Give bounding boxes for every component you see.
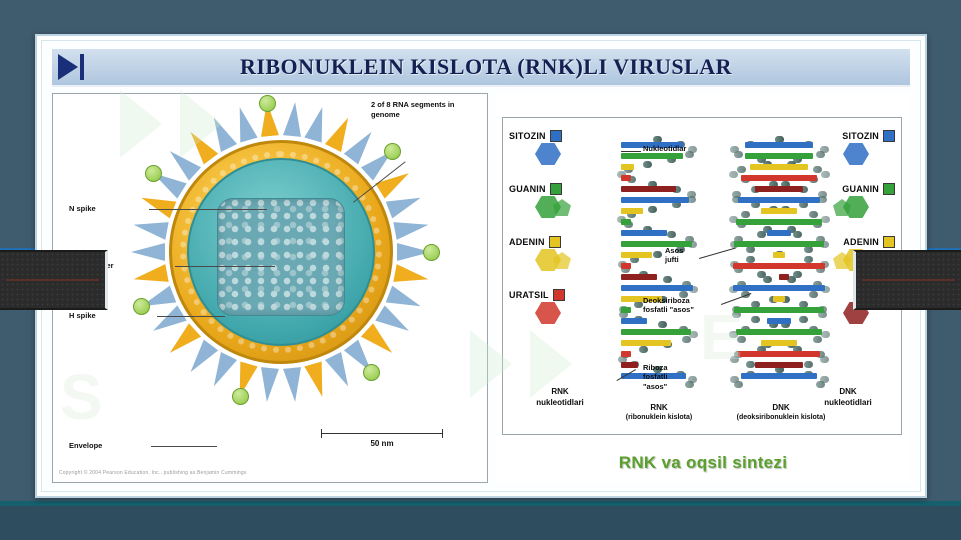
virus-spike-h (304, 361, 331, 399)
base-label: SITOZIN (509, 131, 546, 141)
virus-diagram-panel: N spike Capsid layer H spike Envelope 2 … (52, 93, 488, 483)
leader-envelope (151, 446, 217, 447)
base-pair-rung (621, 263, 631, 269)
base-pair-rung (621, 274, 657, 280)
label-envelope: Envelope (69, 441, 102, 450)
virus-glycoprotein-knob (259, 95, 276, 112)
virus-glycoprotein-knob (423, 244, 440, 261)
virus-spike-n (393, 216, 430, 240)
base-pair-rung (621, 252, 652, 258)
caption-rna-nucleotides: RNK nukleotidlari (517, 387, 603, 408)
helix-backbone-segment (643, 161, 652, 168)
base-pair-rung (767, 318, 792, 324)
slide-inner: RIBONUKLEIN KISLOTA (RNK)LI VIRUSLAR (41, 40, 921, 492)
base-pair-rung (745, 153, 812, 159)
base-pair-rung (733, 263, 825, 269)
copyright-notice: Copyright © 2004 Pearson Education, Inc.… (59, 470, 247, 476)
caption-dnk-title-text: DNK (711, 403, 851, 413)
helix-backbone-segment (751, 316, 760, 323)
label-n-spike: N spike (69, 204, 96, 213)
virus-spike-n (283, 102, 304, 138)
helix-backbone-segment (804, 361, 813, 368)
helix-backbone-segment (813, 336, 822, 343)
virus-particle (131, 102, 431, 442)
base-pair-rung (779, 274, 789, 280)
leader-nucleotides (621, 151, 641, 152)
helix-backbone-segment (746, 361, 755, 368)
page-title: RIBONUKLEIN KISLOTA (RNK)LI VIRUSLAR (102, 54, 910, 80)
helix-backbone-segment (746, 246, 755, 253)
helix-backbone-segment (746, 256, 755, 263)
base-pair-rung (621, 329, 691, 335)
helix-backbone-segment (737, 336, 746, 343)
base-pair-rung (621, 340, 671, 346)
slide: RIBONUKLEIN KISLOTA (RNK)LI VIRUSLAR (35, 34, 927, 498)
virus-spike-n (304, 105, 331, 143)
helix-backbone-segment (763, 276, 772, 283)
left-base-column: SITOZINGUANINADENINURATSIL (509, 130, 601, 342)
caption-dnk-subtitle: (deoksiribonuklein kislota) (711, 413, 851, 422)
leader-capsid (175, 266, 275, 267)
background-bottom-band (0, 506, 961, 540)
virus-stage: N spike Capsid layer H spike Envelope 2 … (53, 94, 487, 482)
base-pair-rung (621, 197, 689, 203)
virus-glycoprotein-knob (363, 364, 380, 381)
base-pair-rung (745, 142, 812, 148)
play-arrow-icon[interactable] (56, 52, 102, 82)
virus-spike-n (283, 367, 304, 403)
base-pair-rung (621, 318, 647, 324)
base-label: ADENIN (509, 237, 545, 247)
base-item: GUANIN (509, 183, 601, 226)
label-nucleotides: Nukleotidlar (643, 144, 686, 153)
virus-spike-h (393, 264, 430, 288)
helix-backbone-segment (741, 211, 750, 218)
base-pair-rung (738, 351, 820, 357)
virus-spike-n (258, 367, 279, 403)
helix-backbone-segment (816, 151, 825, 158)
base-molecule-structure (509, 143, 601, 173)
caption-rna-title-text: RNK (609, 403, 709, 413)
base-pair-rung (741, 175, 816, 181)
base-pair-rung (621, 164, 634, 170)
base-pair-rung (621, 362, 638, 368)
helix-backbone-segment (730, 356, 739, 363)
helix-backbone-segment (653, 251, 662, 258)
helix-backbone-segment (639, 346, 648, 353)
base-pair-rung (755, 186, 803, 192)
base-pair-rung (736, 329, 823, 335)
base-pair-rung (755, 362, 803, 368)
caption-rna-subtitle: (ribonuklein kislota) (609, 413, 709, 422)
base-label: ADENIN (843, 237, 879, 247)
helix-backbone-segment (729, 171, 738, 178)
helix-backbone-segment (648, 206, 657, 213)
base-label: GUANIN (509, 184, 546, 194)
base-row: GUANIN (509, 183, 601, 195)
label-rna-segments-note: 2 of 8 RNA segments in genome (371, 100, 463, 120)
label-ribose: Riboza fosfatli "asos" (643, 363, 668, 391)
base-pair-rung (761, 340, 798, 346)
virus-glycoprotein-knob (232, 388, 249, 405)
base-pair-rung (621, 153, 683, 159)
base-item: SITOZIN (509, 130, 601, 173)
base-ring-icon (535, 143, 561, 165)
helix-backbone-segment (663, 276, 672, 283)
virus-spike-n (231, 105, 258, 143)
base-pair-rung (734, 307, 824, 313)
scale-bar-value: 50 nm (321, 439, 443, 448)
dna-double-helix (727, 136, 831, 382)
base-molecule-structure (509, 196, 601, 226)
leader-h-spike (157, 316, 225, 317)
base-label: URATSIL (509, 290, 549, 300)
base-ring-icon (843, 143, 869, 165)
base-molecule-structure (509, 302, 601, 332)
base-item: URATSIL (509, 289, 601, 332)
green-caption: RNK va oqsil sintezi (496, 453, 910, 473)
base-color-chip (553, 289, 565, 301)
base-pair-rung (767, 230, 792, 236)
helix-backbone-segment (734, 151, 743, 158)
virus-glycoprotein-knob (384, 143, 401, 160)
base-label: GUANIN (842, 184, 879, 194)
base-color-chip (550, 130, 562, 142)
base-color-chip (883, 236, 895, 248)
base-pair-rung (621, 208, 643, 214)
base-pair-rung (741, 373, 816, 379)
virus-spike-n (132, 216, 169, 240)
scale-bar: 50 nm (321, 429, 443, 448)
helix-backbone-segment (809, 211, 818, 218)
base-color-chip (550, 183, 562, 195)
base-item: ADENIN (509, 236, 601, 279)
base-pair-rung (773, 252, 786, 258)
virus-spike-h (132, 264, 169, 288)
base-pair-rung (621, 307, 631, 313)
helix-backbone-segment (813, 166, 822, 173)
base-pair-rung (621, 186, 676, 192)
helix-backbone-segment (821, 216, 830, 223)
helix-backbone-segment (667, 231, 676, 238)
base-pair-rung (734, 241, 824, 247)
helix-backbone-segment (658, 321, 667, 328)
base-pair-rung (738, 197, 820, 203)
rna-dna-panel: SITOZINGUANINADENINURATSIL SITOZINGUANIN… (496, 93, 910, 483)
helix-backbone-segment (804, 256, 813, 263)
helix-backbone-segment (809, 291, 818, 298)
helix-backbone-segment (804, 246, 813, 253)
helix-backbone-segment (737, 166, 746, 173)
base-row: URATSIL (509, 289, 601, 301)
base-row: ADENIN (509, 236, 601, 248)
helix-backbone-segment (734, 381, 743, 388)
virus-spike-n (131, 243, 165, 261)
play-arrow-triangle (58, 54, 78, 80)
virus-nucleocapsid (217, 198, 345, 316)
helix-backbone-segment (682, 336, 691, 343)
helix-backbone-segment (793, 271, 802, 278)
base-molecule-structure (509, 249, 601, 279)
base-ring-icon (535, 302, 561, 324)
title-bar: RIBONUKLEIN KISLOTA (RNK)LI VIRUSLAR (52, 49, 910, 87)
base-pair-rung (621, 351, 631, 357)
rna-single-helix (615, 136, 699, 382)
base-pair-rung (773, 296, 786, 302)
caption-rna-title: RNK (ribonuklein kislota) (609, 403, 709, 422)
helix-backbone-segment (799, 316, 808, 323)
label-deoxyribose: Deoksiriboza fosfatli "asos" (643, 296, 694, 315)
scale-bar-rule (321, 429, 443, 438)
caption-dnk-title: DNK (deoksiribonuklein kislota) (711, 403, 851, 422)
base-pair-rung (750, 164, 808, 170)
base-label: SITOZIN (842, 131, 879, 141)
rna-dna-figure: SITOZINGUANINADENINURATSIL SITOZINGUANIN… (502, 117, 902, 435)
base-pair-rung (621, 175, 631, 181)
base-color-chip (883, 130, 895, 142)
base-color-chip (883, 183, 895, 195)
previous-slide-button[interactable] (0, 250, 108, 310)
helix-backbone-segment (757, 231, 766, 238)
base-pair-rung (621, 230, 667, 236)
base-pair-rung (761, 208, 798, 214)
base-pair-rung (733, 285, 825, 291)
label-h-spike: H spike (69, 311, 96, 320)
helix-backbone-segment (685, 381, 694, 388)
base-pair-rung (621, 219, 631, 225)
helix-backbone-segment (634, 301, 643, 308)
helix-backbone-segment (821, 331, 830, 338)
leader-n-spike (149, 209, 267, 210)
helix-backbone-segment (820, 356, 829, 363)
base-row: SITOZIN (509, 130, 601, 142)
base-pair-rung (736, 219, 823, 225)
helix-backbone-segment (821, 171, 830, 178)
label-base-pair: Asos jufti (665, 246, 683, 265)
slide-content: N spike Capsid layer H spike Envelope 2 … (52, 93, 910, 483)
play-arrow-bar (80, 54, 84, 80)
base-pair-rung (621, 285, 693, 291)
next-slide-button[interactable] (853, 250, 961, 310)
base-color-chip (549, 236, 561, 248)
